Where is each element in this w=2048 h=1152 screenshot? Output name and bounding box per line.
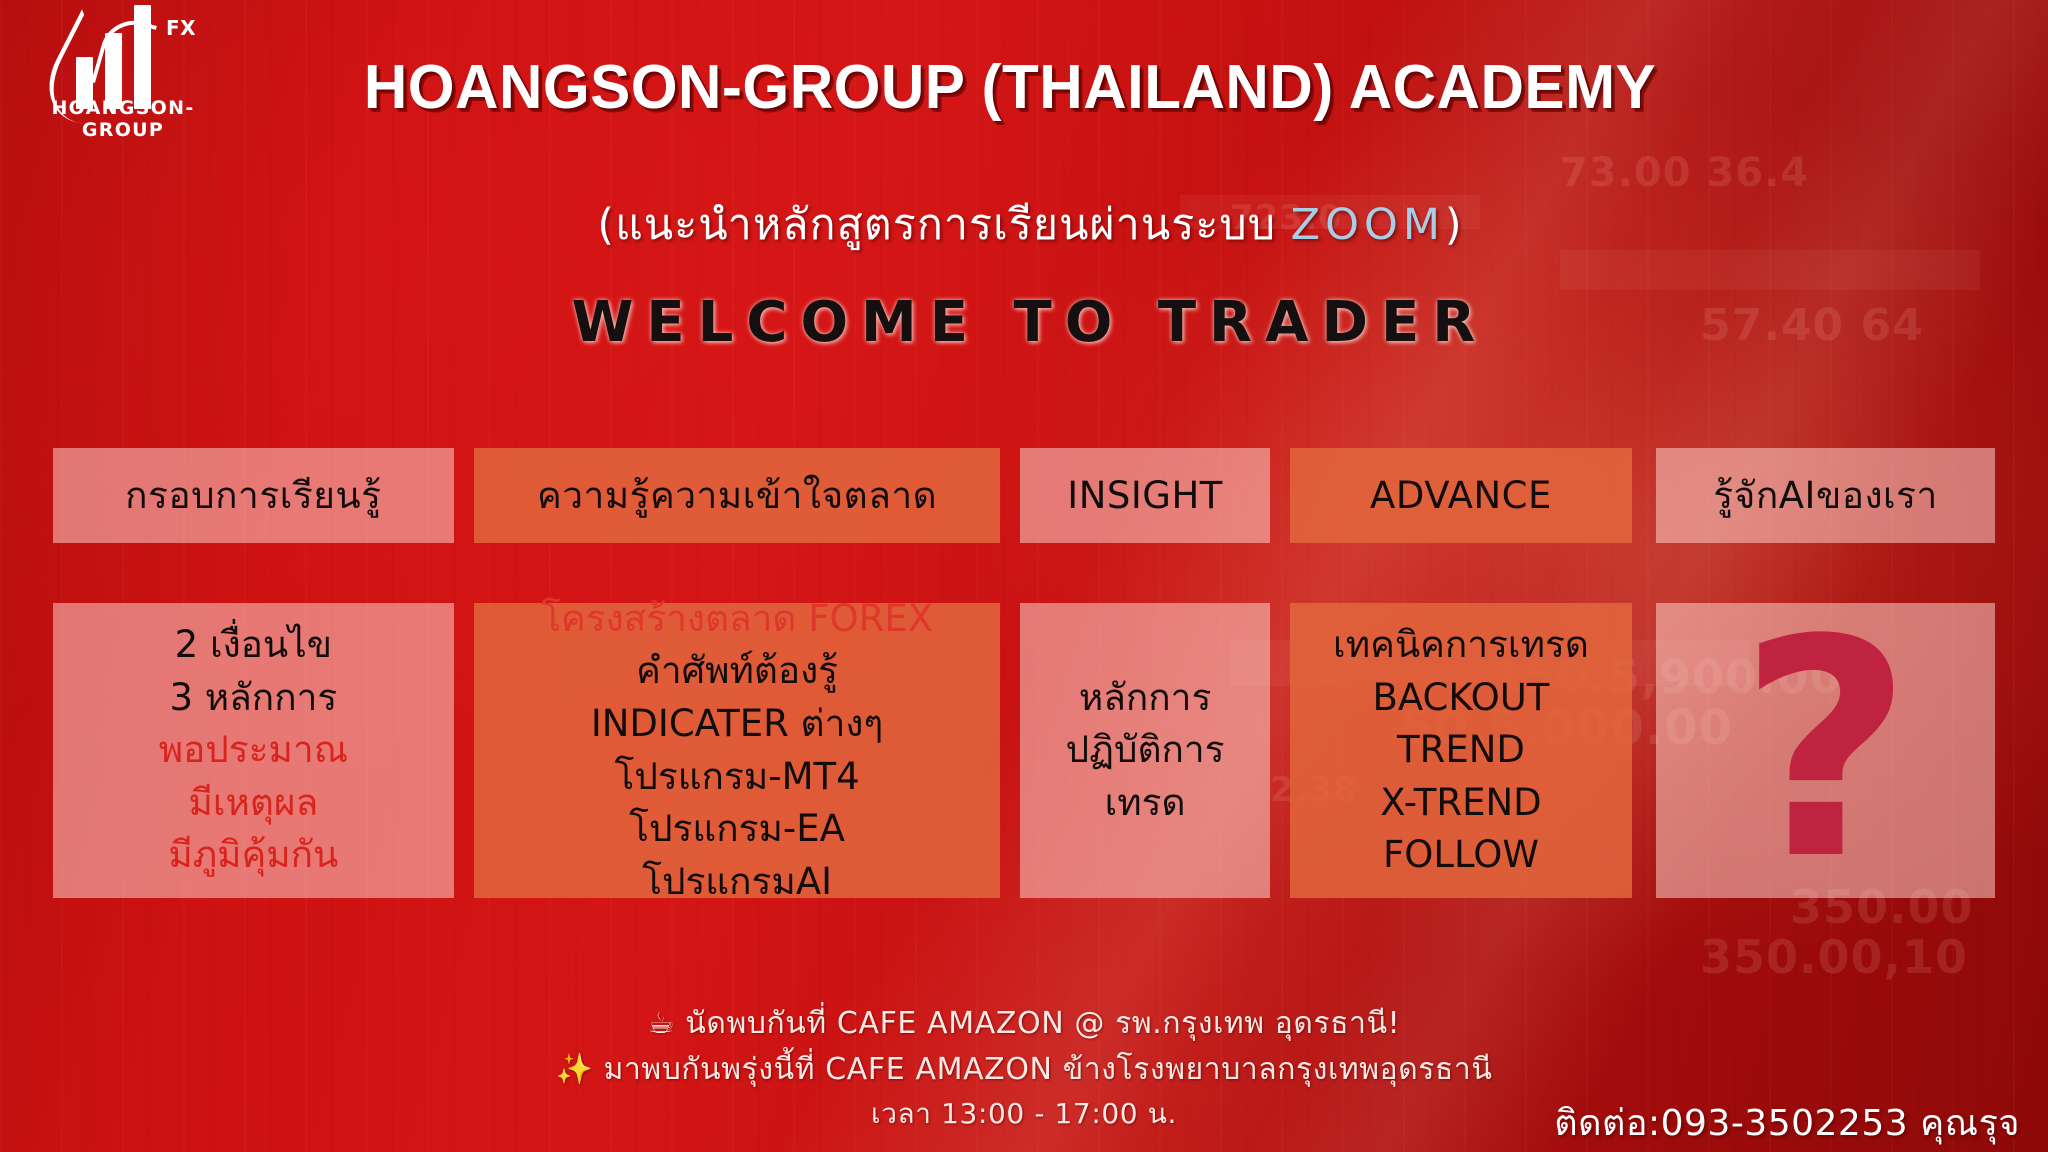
column-header-4: ADVANCE — [1290, 448, 1632, 543]
list-item: 3 หลักการ — [169, 672, 337, 725]
list-item: 2 เงื่อนไข — [175, 619, 332, 672]
contact-phone: ติดต่อ:093-3502253 คุณรุจ — [1554, 1094, 2020, 1151]
logo-fx-label: FX — [166, 16, 196, 40]
list-item: คำศัพท์ต้องรู้ — [636, 645, 838, 698]
subtitle-zoom-label: ZOOM — [1291, 200, 1445, 250]
logo-bar-3 — [134, 5, 151, 109]
list-item: หลักการ — [1079, 672, 1212, 725]
hoangson-group-logo: FX HOANGSON-GROUP — [18, 8, 228, 143]
list-item: โปรแกรม-EA — [629, 803, 845, 856]
column-header-3: INSIGHT — [1020, 448, 1270, 543]
list-item: FOLLOW — [1383, 829, 1539, 882]
list-item: ปฏิบัติการ — [1066, 724, 1225, 777]
footer-line-2: ✨ มาพบกันพรุ่งนี้ที่ CAFE AMAZON ข้างโรง… — [0, 1046, 2048, 1093]
ghost-ticker-value: 350.00,10 — [1700, 930, 1968, 984]
list-item: พอประมาณ — [159, 724, 348, 777]
subtitle-prefix: (แนะนำหลักสูตรการเรียนผ่านระบบ — [597, 200, 1290, 250]
page-title: HOANGSON-GROUP (THAILAND) ACADEMY — [253, 52, 1766, 123]
logo-wordmark: HOANGSON-GROUP — [18, 97, 228, 141]
column-body-2: โครงสร้างตลาด FOREX คำศัพท์ต้องรู้ INDIC… — [474, 603, 1000, 898]
list-item: มีเหตุผล — [188, 777, 318, 830]
column-body-3: หลักการ ปฏิบัติการ เทรด — [1020, 603, 1270, 898]
list-item: โครงสร้างตลาด FOREX — [541, 593, 933, 646]
list-item: เทรด — [1105, 777, 1186, 830]
page-subtitle: (แนะนำหลักสูตรการเรียนผ่านระบบ ZOOM) — [180, 190, 1880, 258]
welcome-heading: WELCOME TO TRADER — [180, 290, 1880, 355]
column-header-1: กรอบการเรียนรู้ — [53, 448, 454, 543]
column-body-1: 2 เงื่อนไข 3 หลักการ พอประมาณ มีเหตุผล ม… — [53, 603, 454, 898]
list-item: INDICATER ต่างๆ — [591, 698, 883, 751]
list-item: TREND — [1397, 724, 1525, 777]
list-item: มีภูมิคุ้มกัน — [168, 829, 338, 882]
poster-canvas: 73.00 36.4 723.0 57.40 64 150.5,900.00 5… — [0, 0, 2048, 1152]
question-mark-icon: ? — [1656, 603, 1996, 898]
column-body-4: เทคนิคการเทรด BACKOUT TREND X-TREND FOLL… — [1290, 603, 1632, 898]
list-item: เทคนิคการเทรด — [1333, 619, 1589, 672]
list-item: โปรแกรม-MT4 — [614, 751, 859, 804]
footer-line-1: ☕ นัดพบกันที่ CAFE AMAZON @ รพ.กรุงเทพ อ… — [0, 1000, 2048, 1047]
column-header-5: รู้จักAIของเรา — [1656, 448, 1996, 543]
list-item: BACKOUT — [1372, 672, 1549, 725]
subtitle-suffix: ) — [1445, 200, 1463, 250]
list-item: โปรแกรมAI — [642, 856, 832, 909]
list-item: X-TREND — [1380, 777, 1541, 830]
column-header-2: ความรู้ความเข้าใจตลาด — [474, 448, 1000, 543]
